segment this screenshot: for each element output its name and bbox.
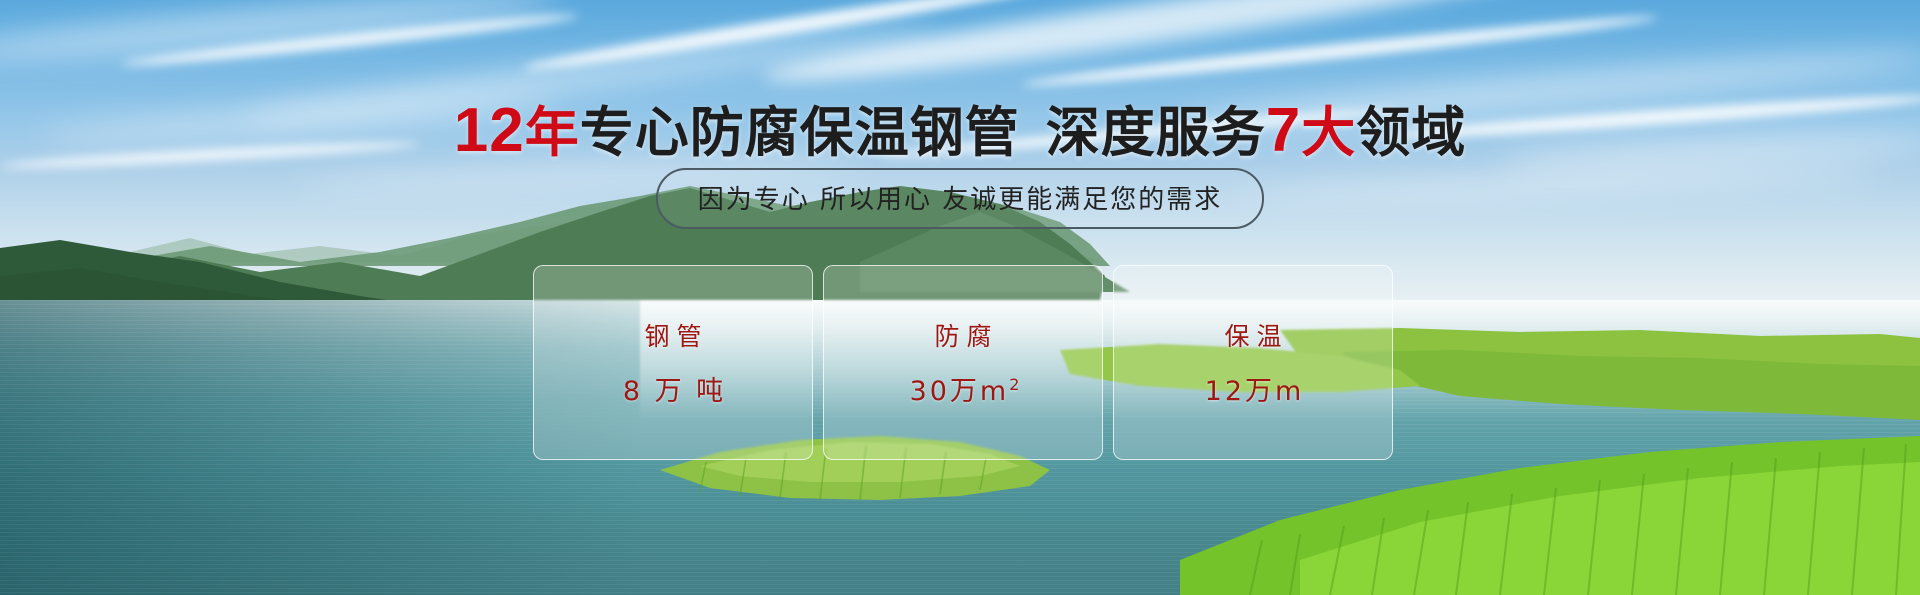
headline-years-number: 12 <box>454 96 525 165</box>
headline-fields-number: 7 <box>1266 96 1301 165</box>
headline-part1-rest: 专心防腐保温钢管 <box>580 101 1020 164</box>
stat-card-value-main: 8 万 吨 <box>623 376 726 407</box>
stat-card-value-main: 30万m <box>910 376 1010 407</box>
subtitle-pill: 因为专心 所以用心 友诚更能满足您的需求 <box>656 168 1265 229</box>
headline-part2-lead: 深度服务 <box>1046 101 1266 164</box>
stat-card-insulation[interactable]: 保温 12万m <box>1113 265 1393 460</box>
stat-card-value-main: 12万m <box>1205 376 1305 407</box>
stat-card-steel-pipe[interactable]: 钢管 8 万 吨 <box>533 265 813 460</box>
headline: 12年专心防腐保温钢管深度服务7大领域 <box>0 88 1920 167</box>
headline-fields-big: 大 <box>1301 101 1356 164</box>
stat-card-value-superscript: 2 <box>1009 375 1019 394</box>
stat-card-value: 12万m <box>1202 369 1305 408</box>
headline-part2-rest: 领域 <box>1356 101 1466 164</box>
stat-card-label: 保温 <box>1217 317 1288 353</box>
stat-card-value: 8 万 吨 <box>620 369 726 408</box>
stat-card-anticorrosion[interactable]: 防腐 30万m2 <box>823 265 1103 460</box>
subtitle-container: 因为专心 所以用心 友诚更能满足您的需求 <box>0 168 1920 229</box>
stat-card-label: 钢管 <box>637 317 708 353</box>
stat-cards: 钢管 8 万 吨 防腐 30万m2 保温 12万m <box>533 265 1393 460</box>
stat-card-value: 30万m2 <box>907 369 1020 408</box>
headline-years-unit: 年 <box>525 101 580 164</box>
stat-card-label: 防腐 <box>927 317 998 353</box>
hero-banner: 12年专心防腐保温钢管深度服务7大领域 因为专心 所以用心 友诚更能满足您的需求… <box>0 0 1920 595</box>
